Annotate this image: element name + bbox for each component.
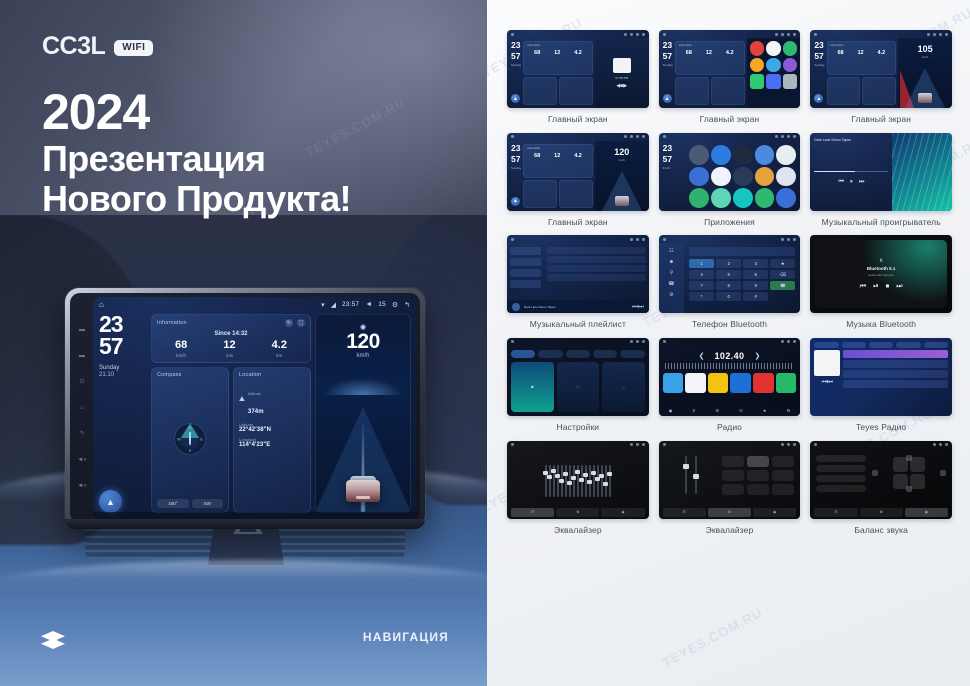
location-card[interactable]: Location ⛰ Altitude 374m: [233, 367, 311, 513]
longitude-value: 114°4'23"E: [239, 442, 305, 448]
location-title: Location: [239, 372, 305, 378]
fav-icon[interactable]: ★: [763, 408, 767, 413]
thumb-stat: 4.2: [574, 153, 582, 159]
tab-eq[interactable]: ☷: [663, 508, 706, 517]
tab[interactable]: [924, 342, 948, 348]
page-title: 2024 Презентация Нового Продукта!: [42, 86, 351, 219]
eq-slider[interactable]: [581, 465, 583, 497]
gallery-item[interactable]: ☷ ⚙ ◉ Эквалайзер: [659, 441, 801, 536]
gallery-item[interactable]: 23 57 Sunday ▲ Information 68124.2 105 k…: [810, 30, 952, 125]
tab-fader[interactable]: ⚙: [556, 508, 599, 517]
app-icon[interactable]: [711, 167, 731, 187]
signal-icon: ◢: [331, 301, 336, 309]
preset-button[interactable]: [772, 484, 794, 495]
thumbnail-equalizer[interactable]: ☷ ⚙ ◉: [507, 441, 649, 519]
vehicle-plate: [356, 496, 370, 499]
eq-band-sliders[interactable]: [507, 449, 649, 497]
dial-key[interactable]: #: [743, 292, 768, 301]
stat-unit: km: [272, 353, 287, 358]
app-icon[interactable]: [733, 188, 753, 208]
eq-slider[interactable]: [593, 465, 595, 497]
eq-slider[interactable]: [589, 465, 591, 497]
thumbnail-home-apps[interactable]: 23 57 Sunday ▲ Information 68124.2: [659, 30, 801, 108]
seat-front-right[interactable]: [910, 457, 925, 472]
dial-key[interactable]: 8: [716, 281, 741, 290]
thumbnail-music-player[interactable]: Dark Lane Demo Tapes ♪ ⏮ ⏸ ⏭: [810, 133, 952, 211]
play-pause-icon[interactable]: ⏯: [873, 283, 879, 291]
title-line-2: Нового Продукта!: [42, 179, 351, 219]
carplay-card[interactable]: ⛶: [557, 362, 600, 412]
speed-value: 120: [316, 331, 410, 352]
thumb-nav-button[interactable]: ▲: [511, 197, 520, 206]
gallery-caption: Главный экран: [851, 114, 911, 125]
number-field[interactable]: [689, 247, 795, 256]
dialpad-icon[interactable]: ☷: [669, 248, 673, 254]
tab-wifi[interactable]: [511, 350, 535, 358]
thumbnail-apps[interactable]: 23 57 21.10: [659, 133, 801, 211]
preset-button[interactable]: [747, 470, 769, 481]
list-item[interactable]: [843, 380, 948, 388]
album-art: [814, 350, 840, 376]
tab-system[interactable]: [593, 350, 617, 358]
presentation-slide: TEYES.COM.RU TEYES.COM.RU TEYES.COM.RU T…: [0, 0, 970, 686]
eq-tabs[interactable]: ☷ ⚙ ◉: [507, 508, 649, 519]
settings-icon[interactable]: ⚙: [669, 292, 673, 298]
thumb-info-title: Information: [527, 147, 589, 150]
thumb-clock-min: 57: [507, 49, 521, 60]
power-key[interactable]: ⏻: [80, 379, 85, 385]
eq-slider[interactable]: [609, 465, 611, 497]
app-icon[interactable]: [711, 188, 731, 208]
clock-widget[interactable]: 23 57 Sunday 21.10 ▲: [99, 314, 147, 513]
gallery-item[interactable]: ⏮⏹⏭ Teyes Радио: [810, 338, 952, 433]
tab-eq[interactable]: ☷: [511, 508, 554, 517]
vehicle-model: [346, 472, 380, 502]
history-icon[interactable]: ☎: [668, 281, 674, 287]
tab-eq[interactable]: ☷: [814, 508, 857, 517]
thumbnail-teyes-radio[interactable]: ⏮⏹⏭: [810, 338, 952, 416]
dial-key[interactable]: 2: [716, 259, 741, 268]
app-icon[interactable]: [750, 74, 765, 89]
preset-tile[interactable]: [753, 373, 774, 394]
thumbnail-sound-balance[interactable]: ☷ ⚙ ◉: [810, 441, 952, 519]
app-icon[interactable]: [755, 145, 775, 165]
app-icon[interactable]: [776, 167, 796, 187]
wifi-badge: WIFI: [114, 40, 153, 56]
thumbnail-home-speed[interactable]: 23 57 Sunday ▲ Information 68124.2 120 k…: [507, 133, 649, 211]
gear-icon[interactable]: ⚙: [392, 301, 398, 309]
backspace-icon[interactable]: ⌫: [770, 270, 795, 279]
thumb-stat: 68: [837, 50, 843, 56]
gallery-item[interactable]: 23 57 21.10: [659, 133, 801, 228]
eq-slider[interactable]: [695, 456, 697, 494]
gallery-caption: Teyes Радио: [856, 422, 906, 433]
pause-icon[interactable]: ⏸: [850, 179, 853, 186]
previous-icon[interactable]: ⏮: [860, 283, 866, 291]
thumb-stat: 12: [706, 50, 712, 56]
seat-grid[interactable]: [893, 457, 925, 489]
list-item[interactable]: [510, 247, 541, 255]
preset-button[interactable]: [816, 475, 865, 482]
back-icon[interactable]: ↰: [404, 301, 410, 309]
dial-key[interactable]: *: [689, 292, 714, 301]
preset-button[interactable]: [747, 484, 769, 495]
more-card[interactable]: ⋯: [602, 362, 645, 412]
thumb-stat: 68: [534, 50, 540, 56]
tab-about[interactable]: [620, 350, 644, 358]
radio-toolbar[interactable]: ◉ ⚲ ☰ ☷ ★ ⚙: [659, 406, 801, 416]
vol-down-key[interactable]: ▬: [79, 353, 85, 359]
dial-key[interactable]: 5: [716, 270, 741, 279]
tab-display[interactable]: [566, 350, 590, 358]
gallery-item[interactable]: ☷ ☻ ⚲ ☎ ⚙ 1 2 3 ★: [659, 235, 801, 330]
navigation-label: НАВИГАЦИЯ: [363, 630, 449, 644]
track-artist: ♪: [814, 144, 888, 147]
layers-icon[interactable]: [40, 630, 66, 650]
refresh-icon[interactable]: ↻: [285, 319, 293, 327]
next-icon[interactable]: ⏭: [896, 283, 902, 291]
thumbnail-playlist[interactable]: Dark Lane Demo Tapes ⏮⏸⏭: [507, 235, 649, 313]
eq-tabs[interactable]: ☷ ⚙ ◉: [659, 508, 801, 519]
screenshot-grid: 23 57 Sunday ▲ Information 68124.2 07:50…: [507, 30, 952, 535]
logo-text: CC3L: [42, 32, 105, 61]
media-controls[interactable]: ⏮⏹⏭: [822, 379, 834, 385]
tab-fader[interactable]: ⚙: [860, 508, 903, 517]
preset-tiles[interactable]: [659, 371, 801, 396]
app-icon[interactable]: [689, 188, 709, 208]
car-interior-photo: ▬ ▬ ⏻ ⌂ ↰ ◄» ◄» ⌂ ▾ ◢: [0, 215, 487, 686]
thumbnail-bluetooth-phone[interactable]: ☷ ☻ ⚲ ☎ ⚙ 1 2 3 ★: [659, 235, 801, 313]
stat-unit: km/h: [175, 353, 187, 358]
list-item[interactable]: [843, 350, 948, 358]
app-icon[interactable]: [783, 58, 798, 73]
thumbnail-home-adas[interactable]: 23 57 Sunday ▲ Information 68124.2 105 k…: [810, 30, 952, 108]
preset-button[interactable]: [722, 456, 744, 467]
thumb-nav-button[interactable]: ▲: [814, 94, 823, 103]
thumb-info-title: Information: [527, 44, 589, 47]
watermark: TEYES.COM.RU: [660, 605, 765, 670]
app-icon[interactable]: [750, 58, 765, 73]
phone-sidebar[interactable]: ☷ ☻ ⚲ ☎ ⚙: [659, 243, 685, 313]
thumb-stat: 4.2: [726, 50, 734, 56]
thumbnail-bluetooth-music[interactable]: x Bluetooth 5.1 Feels Like Summer ⏮ ⏯ ⏹ …: [810, 235, 952, 313]
app-drawer[interactable]: [687, 141, 800, 211]
clock-weekday: Sunday: [99, 364, 147, 372]
list-item[interactable]: [547, 265, 646, 272]
tab-balance[interactable]: ◉: [753, 508, 796, 517]
media-controls[interactable]: ◀■▶: [616, 83, 627, 89]
tab-sound[interactable]: [538, 350, 562, 358]
stat-speed: 68 km/h: [175, 340, 187, 358]
media-controls[interactable]: ⏮ ⏸ ⏭: [814, 179, 888, 186]
progress-bar[interactable]: [814, 171, 888, 173]
gallery-item[interactable]: Dark Lane Demo Tapes ♪ ⏮ ⏸ ⏭ Музыкальны: [810, 133, 952, 228]
vol-up-key[interactable]: ▬: [79, 327, 85, 333]
list-item[interactable]: [510, 280, 541, 288]
altitude-value: 374m: [248, 409, 264, 415]
dial-key[interactable]: 7: [689, 281, 714, 290]
thumb-stat: 12: [554, 50, 560, 56]
compass-west: W: [177, 436, 181, 441]
navigation-button[interactable]: ▲: [99, 490, 122, 513]
gallery-caption: Телефон Bluetooth: [692, 319, 767, 330]
track-time: 07:50 PM: [615, 76, 628, 80]
preset-tile[interactable]: [685, 373, 706, 394]
thumb-clock: 23: [659, 141, 687, 152]
compass-south: S: [189, 448, 192, 453]
thumb-clock: 23: [810, 38, 824, 49]
list-item[interactable]: [547, 247, 646, 254]
app-icon[interactable]: [766, 41, 781, 56]
gallery-item[interactable]: x Bluetooth 5.1 Feels Like Summer ⏮ ⏯ ⏹ …: [810, 235, 952, 330]
mic-key[interactable]: ◄»: [77, 457, 86, 463]
list-item[interactable]: [843, 360, 948, 368]
list-item[interactable]: [547, 274, 646, 281]
thumb-weekday: Sunday: [507, 63, 521, 67]
speed-unit: km/h: [316, 353, 410, 359]
thumb-clock-min: 57: [659, 49, 673, 60]
media-controls[interactable]: ⏮⏸⏭: [632, 304, 644, 310]
expand-icon[interactable]: ⛶: [297, 319, 305, 327]
gallery-item[interactable]: 23 57 Sunday ▲ Information 68124.2: [659, 30, 801, 125]
preset-button[interactable]: [722, 484, 744, 495]
clock-date: 21.10: [99, 372, 147, 378]
search-icon[interactable]: ⚲: [692, 408, 695, 413]
thumb-weekday: Sunday: [659, 63, 673, 67]
gallery-item[interactable]: ❮ 102.40 ❯ ◉ ⚲: [659, 338, 801, 433]
preset-button[interactable]: [816, 485, 865, 492]
thumb-clock-min: 57: [659, 152, 687, 163]
tab[interactable]: [814, 342, 838, 348]
eq-preset-grid[interactable]: [722, 456, 795, 495]
gallery-caption: Главный экран: [548, 217, 608, 228]
tab[interactable]: [869, 342, 893, 348]
preset-tile[interactable]: [730, 373, 751, 394]
preset-tile[interactable]: [663, 373, 684, 394]
thumbnail-settings[interactable]: ⛇ ⛶ ⋯: [507, 338, 649, 416]
app-icon[interactable]: [766, 74, 781, 89]
dial-key[interactable]: 4: [689, 270, 714, 279]
tab-balance[interactable]: ◉: [905, 508, 948, 517]
eq-slider[interactable]: [605, 465, 607, 497]
contacts-icon[interactable]: ☻: [669, 259, 674, 265]
station-list[interactable]: [843, 350, 948, 412]
thumb-clock: 23: [507, 141, 521, 152]
side-key-column[interactable]: ▬ ▬ ⏻ ⌂ ↰ ◄» ◄»: [74, 297, 90, 519]
eq-slider[interactable]: [569, 465, 571, 497]
eq-icon[interactable]: ☷: [739, 408, 743, 413]
preset-button[interactable]: [722, 470, 744, 481]
band-icon[interactable]: ◉: [669, 408, 673, 413]
title-year: 2024: [42, 86, 351, 139]
balance-right-button[interactable]: [940, 470, 946, 476]
app-icon[interactable]: [689, 167, 709, 187]
app-icon[interactable]: [755, 188, 775, 208]
settings-icon[interactable]: ⚙: [787, 408, 791, 413]
visualizer: [892, 133, 952, 211]
road-horizon-glow: [316, 371, 410, 395]
tab-balance[interactable]: ◉: [601, 508, 644, 517]
bluetooth-version: Bluetooth 5.1: [867, 266, 896, 271]
seat-rear-right[interactable]: [910, 474, 925, 489]
gallery-item[interactable]: 23 57 Sunday ▲ Information 68124.2 07:50…: [507, 30, 649, 125]
frequency-scale[interactable]: [665, 363, 795, 369]
thumb-clock-min: 57: [810, 49, 824, 60]
volume-level: 15: [378, 301, 386, 308]
eq-slider[interactable]: [597, 465, 599, 497]
favorite-icon[interactable]: ★: [770, 259, 795, 268]
head-unit-base: [65, 519, 425, 529]
gallery-caption: Музыка Bluetooth: [846, 319, 916, 330]
gallery-item[interactable]: ☷ ⚙ ◉ Эквалайзер: [507, 441, 649, 536]
app-icon[interactable]: [783, 74, 798, 89]
thumb-speed-value: 105: [898, 44, 952, 54]
gallery-item[interactable]: 23 57 Sunday ▲ Information 68124.2 120 k…: [507, 133, 649, 228]
adas-speed-panel[interactable]: ◉ 120 km/h: [315, 314, 411, 513]
preset-button[interactable]: [816, 455, 865, 462]
app-icon[interactable]: [776, 188, 796, 208]
list-item[interactable]: [510, 269, 541, 277]
thumb-stat: 68: [534, 153, 540, 159]
tab[interactable]: [896, 342, 920, 348]
dial-key[interactable]: 9: [743, 281, 768, 290]
latitude-value: 22°42'38"N: [239, 427, 305, 433]
thumb-speed-unit: km/h: [898, 55, 952, 59]
thumb-stat: 68: [686, 50, 692, 56]
list-icon[interactable]: ☰: [715, 408, 719, 413]
app-icon[interactable]: [783, 41, 798, 56]
thumb-clock: 23: [659, 38, 673, 49]
stat-duration: 12 min: [223, 340, 235, 358]
track-title: Dark Lane Demo Tapes: [814, 138, 888, 142]
thumbnail-home-media[interactable]: 23 57 Sunday ▲ Information 68124.2 07:50…: [507, 30, 649, 108]
next-station-icon[interactable]: ❯: [754, 352, 760, 360]
previous-icon[interactable]: ⏮: [838, 179, 843, 186]
gallery-item[interactable]: ☷ ⚙ ◉ Баланс звука: [810, 441, 952, 536]
teyes-radio-tabs[interactable]: [810, 338, 952, 350]
gallery-item[interactable]: Dark Lane Demo Tapes ⏮⏸⏭ Музыкальный пле…: [507, 235, 649, 330]
eq-slider[interactable]: [561, 465, 563, 497]
preset-tile[interactable]: [776, 373, 797, 394]
compass-direction[interactable]: SW: [192, 499, 224, 508]
eq-slider[interactable]: [545, 465, 547, 497]
head-unit-screen[interactable]: ⌂ ▾ ◢ 23:57 ◄ 15 ⚙ ↰: [93, 297, 416, 519]
app-icon[interactable]: [689, 145, 709, 165]
mountain-icon: ⛰: [239, 396, 245, 404]
thumb-weekday: Sunday: [810, 63, 824, 67]
list-item[interactable]: [510, 258, 541, 266]
head-unit: ▬ ▬ ⏻ ⌂ ↰ ◄» ◄» ⌂ ▾ ◢: [65, 288, 425, 528]
home-icon[interactable]: ⌂: [99, 300, 104, 309]
tab-fader[interactable]: ⚙: [708, 508, 751, 517]
dial-key[interactable]: 0: [716, 292, 741, 301]
prev-station-icon[interactable]: ❮: [699, 352, 705, 360]
balance-left-button[interactable]: [872, 470, 878, 476]
home-key[interactable]: ⌂: [80, 405, 84, 411]
album-art: [512, 303, 520, 311]
thumb-clock-min: 57: [507, 152, 521, 163]
call-icon[interactable]: ☎: [770, 281, 795, 290]
status-bar: ⌂ ▾ ◢ 23:57 ◄ 15 ⚙ ↰: [93, 297, 416, 312]
search-icon[interactable]: ⚲: [670, 270, 674, 276]
dashboard-edge: [0, 560, 487, 594]
playback-bar[interactable]: Dark Lane Demo Tapes ⏮⏸⏭: [507, 300, 649, 313]
dial-key[interactable]: 6: [743, 270, 768, 279]
thumb-nav-button[interactable]: ▲: [663, 94, 672, 103]
eq-slider[interactable]: [685, 456, 687, 494]
balance-pad[interactable]: [872, 455, 946, 492]
hero-panel: TEYES.COM.RU TEYES.COM.RU TEYES.COM.RU T…: [0, 0, 487, 686]
app-icon[interactable]: [755, 167, 775, 187]
balance-rear-button[interactable]: [906, 486, 912, 492]
app-icon[interactable]: [776, 145, 796, 165]
compass-card[interactable]: Compass N E S: [151, 367, 229, 513]
tab[interactable]: [842, 342, 866, 348]
balance-front-button[interactable]: [906, 455, 912, 461]
app-icon[interactable]: [750, 41, 765, 56]
bt-track-title: Feels Like Summer: [868, 273, 894, 277]
eq-slider[interactable]: [601, 465, 603, 497]
compass-heading[interactable]: 180°: [157, 499, 189, 508]
wifi-card[interactable]: ⛇: [511, 362, 554, 412]
thumb-stat: 12: [554, 153, 560, 159]
eq-tabs[interactable]: ☷ ⚙ ◉: [810, 508, 952, 519]
thumb-speed-unit: km/h: [595, 158, 649, 162]
preset-button[interactable]: [747, 456, 769, 467]
eq-level-sliders[interactable]: [665, 456, 717, 495]
mute-key[interactable]: ◄»: [77, 483, 86, 489]
app-icon[interactable]: [733, 145, 753, 165]
volume-icon[interactable]: ◄: [365, 301, 372, 308]
dial-key[interactable]: 3: [743, 259, 768, 268]
preset-tile[interactable]: [708, 373, 729, 394]
next-icon[interactable]: ⏭: [859, 179, 864, 186]
app-icon[interactable]: [711, 145, 731, 165]
stop-icon[interactable]: ⏹: [886, 283, 890, 291]
gallery-caption: Настройки: [557, 422, 600, 433]
information-title: Information: [157, 320, 187, 326]
preset-button[interactable]: [816, 465, 865, 472]
album-art: [613, 58, 631, 73]
list-item[interactable]: [843, 370, 948, 378]
gallery-item[interactable]: ⛇ ⛶ ⋯ Настройки: [507, 338, 649, 433]
dial-key[interactable]: 1: [689, 259, 714, 268]
vehicle-model: [615, 196, 629, 206]
eq-slider[interactable]: [553, 465, 555, 497]
information-card[interactable]: Information ↻ ⛶ Since 14:32: [151, 314, 311, 363]
balance-presets[interactable]: [816, 455, 865, 492]
back-key[interactable]: ↰: [79, 431, 84, 437]
media-controls[interactable]: ⏮ ⏯ ⏹ ⏭: [860, 283, 903, 291]
gallery-caption: Приложения: [704, 217, 755, 228]
dialpad[interactable]: 1 2 3 ★ 4 5 6 ⌫ 7 8 9 ☎: [689, 259, 795, 301]
thumbnail-radio[interactable]: ❮ 102.40 ❯ ◉ ⚲: [659, 338, 801, 416]
app-icon[interactable]: [766, 58, 781, 73]
altitude-label: Altitude: [248, 391, 261, 396]
settings-tabs[interactable]: [507, 346, 649, 362]
wifi-icon: ▾: [321, 301, 325, 309]
preset-button[interactable]: [772, 470, 794, 481]
thumbnail-equalizer-presets[interactable]: ☷ ⚙ ◉: [659, 441, 801, 519]
app-icon[interactable]: [733, 167, 753, 187]
title-line-1: Презентация: [42, 139, 351, 179]
thumb-stat: 4.2: [574, 50, 582, 56]
list-item[interactable]: [547, 256, 646, 263]
stat-distance: 4.2 km: [272, 340, 287, 358]
preset-button[interactable]: [772, 456, 794, 467]
status-clock: 23:57: [342, 301, 359, 308]
thumb-nav-button[interactable]: ▲: [511, 94, 520, 103]
